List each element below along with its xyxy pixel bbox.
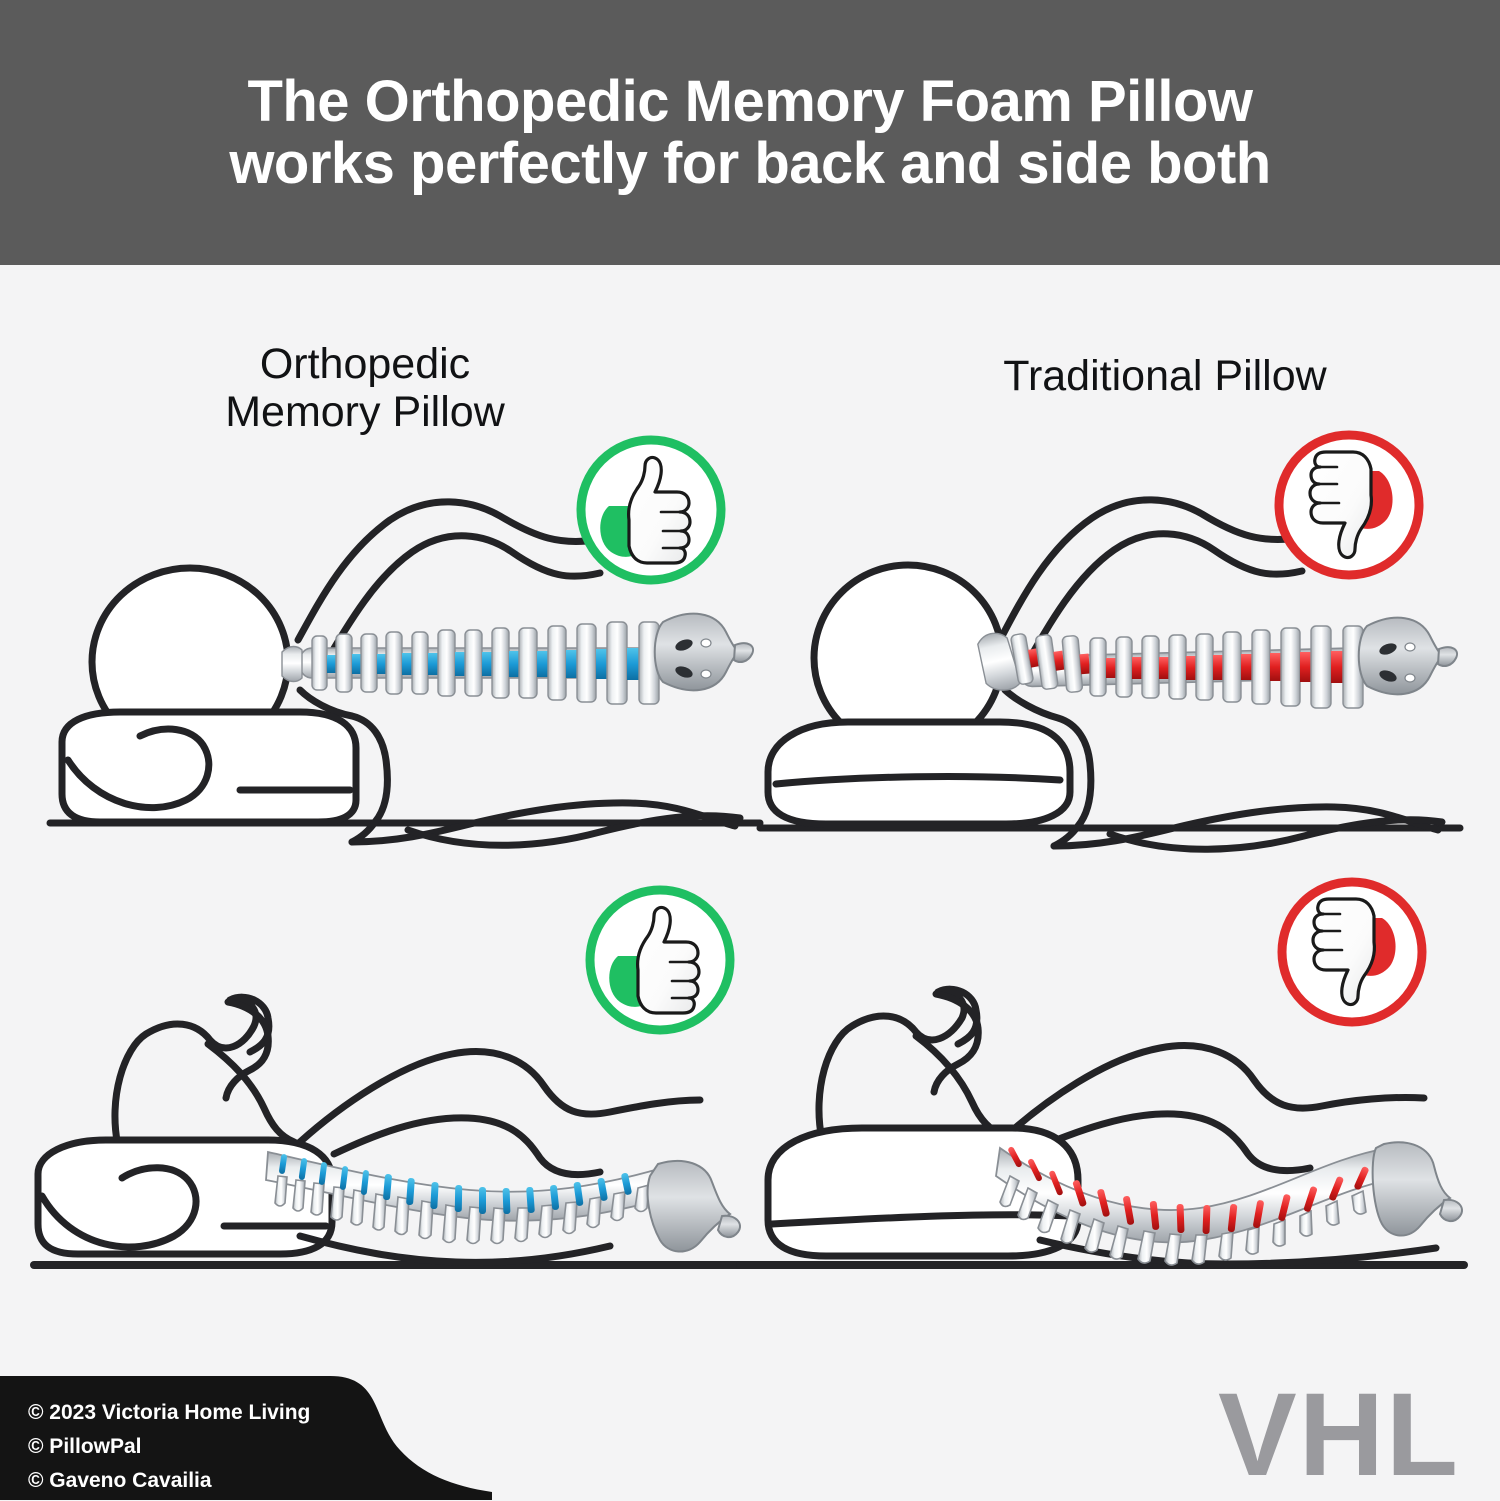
sacrum-top-left [655, 614, 742, 691]
spine-misaligned-red-top-right [976, 618, 1457, 708]
verdict-badge-top-right[interactable] [1279, 435, 1419, 575]
head-profile-back-right [819, 989, 977, 1140]
pillow-crease-bottom-right [772, 1215, 1070, 1224]
thumbs-down-circle-top-right [1279, 435, 1419, 575]
pillow-contour-bottom-left [42, 1168, 196, 1247]
body-arm-curve-left [320, 536, 600, 672]
sacrum-bottom-left [648, 1161, 730, 1252]
body-hip-leg-left [352, 803, 735, 842]
face-chin-line-right [934, 994, 978, 1092]
orthopedic-pillow-bottom-left [38, 1140, 332, 1254]
thumbs-down-circle-bottom-right [1282, 882, 1422, 1022]
spine-shaft-bottom-left [266, 1152, 672, 1221]
torso-outline-back-left [300, 1052, 700, 1142]
thumbs-up-icon-bottom-left [609, 907, 699, 1013]
spine-scurve-red-bottom-right [996, 1142, 1462, 1265]
ear-right [944, 1130, 989, 1185]
body-back-curve-left [298, 502, 596, 640]
body-arm-curve-right [1022, 534, 1302, 672]
sacrum-tail-bottom-right [1440, 1200, 1462, 1221]
body-leg-lower-right [1110, 820, 1442, 850]
spine-aligned-blue-top-left [282, 614, 753, 704]
ear-left [202, 1152, 243, 1200]
thumbs-up-icon-top-left [600, 457, 690, 563]
verdict-badge-bottom-left[interactable] [590, 890, 730, 1030]
arm-line-back-left [334, 1118, 600, 1175]
verdict-badge-top-left[interactable] [581, 440, 721, 580]
body-leg-lower-left [408, 816, 740, 846]
brand-watermark: VHL [1218, 1376, 1460, 1494]
body-outline-side-left [300, 690, 387, 842]
pillow-contour-line-top-left [68, 729, 209, 808]
sacrum-tail-bottom-left [718, 1216, 740, 1237]
traditional-pillow-top-right [768, 722, 1070, 824]
head-side-left [92, 568, 288, 756]
sacrum-top-right [1359, 618, 1446, 695]
thumbs-up-circle-top-left [581, 440, 721, 580]
arm-line-back-right [1036, 1114, 1310, 1171]
sacrum-bottom-right [1373, 1142, 1450, 1235]
panel-top-right [760, 500, 1460, 849]
header-banner: The Orthopedic Memory Foam Pillow works … [0, 0, 1500, 265]
thumbs-down-icon-top-right [1310, 452, 1393, 558]
thumbs-down-icon-bottom-right [1313, 899, 1396, 1005]
pillow-crease-top-right [776, 777, 1060, 784]
sacrum-tail-top-right [1438, 647, 1457, 666]
page-title: The Orthopedic Memory Foam Pillow works … [189, 71, 1310, 194]
body-hip-leg-right [1054, 807, 1438, 846]
copyright-text: © 2023 Victoria Home Living © PillowPal … [28, 1396, 428, 1498]
traditional-pillow-bottom-right [768, 1128, 1078, 1256]
infographic-root: The Orthopedic Memory Foam Pillow works … [0, 0, 1500, 1500]
neck-jaw-right [916, 1036, 1004, 1136]
copyright-line-2: © PillowPal [28, 1430, 428, 1464]
panel-top-left [50, 502, 760, 845]
column-label-traditional: Traditional Pillow [920, 352, 1410, 400]
head-profile-back-left [115, 997, 269, 1146]
neck-jaw-left [208, 1044, 294, 1142]
face-chin-line-left [226, 1002, 268, 1098]
body-back-curve-right [1000, 500, 1298, 640]
spine-curved-blue-bottom-left [266, 1152, 740, 1252]
verdict-badge-bottom-right[interactable] [1282, 882, 1422, 1022]
hip-leg-bottom-right [1040, 1240, 1436, 1264]
orthopedic-pillow-top-left [62, 712, 356, 822]
thumbs-up-circle-bottom-left [590, 890, 730, 1030]
panel-bottom-left [34, 997, 740, 1265]
hip-leg-bottom-left [300, 1236, 610, 1262]
copyright-line-1: © 2023 Victoria Home Living [28, 1396, 428, 1430]
head-side-right [814, 565, 1002, 751]
body-outline-side-right [1005, 690, 1091, 846]
panel-bottom-right [740, 989, 1464, 1265]
spine-shaft-bottom-right [996, 1148, 1396, 1242]
copyright-line-3: © Gaveno Cavailia [28, 1464, 428, 1498]
sacrum-tail-top-left [734, 643, 753, 662]
torso-outline-back-right [1006, 1046, 1424, 1136]
column-label-orthopedic: Orthopedic Memory Pillow [140, 340, 590, 436]
